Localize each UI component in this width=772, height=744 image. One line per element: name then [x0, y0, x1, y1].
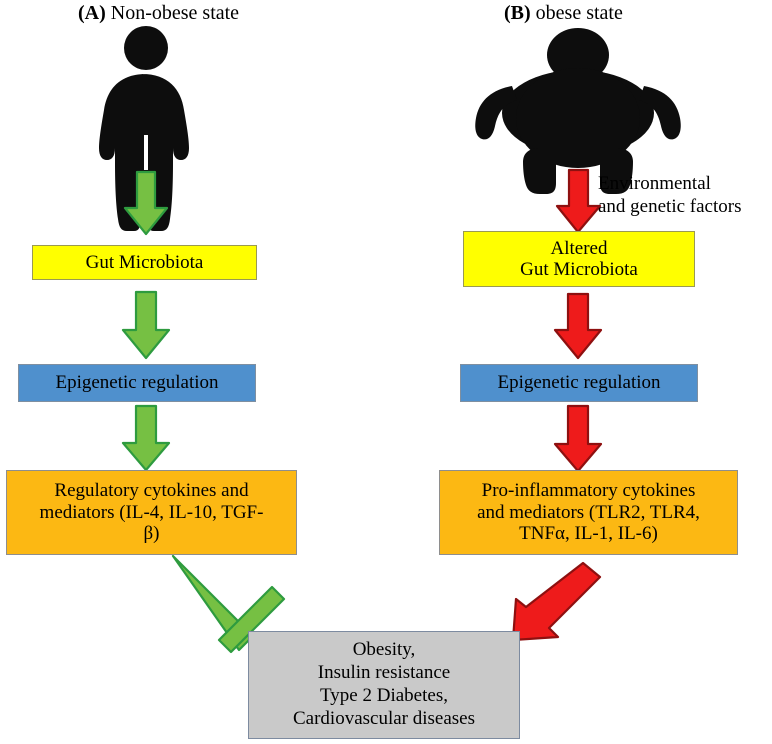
green-arrow-epigenetic-to-cytokines [123, 406, 169, 470]
panel-b-title: (B) obese state [504, 2, 623, 25]
box-pro-inflammatory-cytokines[interactable]: Pro-inflammatory cytokines and mediators… [439, 470, 738, 555]
panel-b-label: (B) [504, 2, 531, 24]
figure-canvas: (A) Non-obese state (B) obese state Gut … [0, 0, 772, 744]
box-gut-microbiota-left-label: Gut Microbiota [86, 252, 204, 273]
box-regulatory-cytokines-line1: Regulatory cytokines and [54, 480, 248, 501]
box-outcome-line1: Obesity, [353, 639, 416, 662]
panel-a-label: (A) [78, 2, 106, 24]
box-epigenetic-regulation-right-label: Epigenetic regulation [497, 372, 660, 393]
panel-b-text: obese state [531, 2, 623, 24]
red-arrow-cytokines-to-outcome [513, 563, 600, 640]
obese-person-silhouette [475, 28, 681, 194]
box-outcome-line4: Cardiovascular diseases [293, 708, 475, 731]
box-outcome-line2: Insulin resistance [318, 662, 450, 685]
box-pro-inflammatory-cytokines-line3: TNFα, IL-1, IL-6) [519, 523, 658, 544]
green-arrow-microbiota-to-epigenetic [123, 292, 169, 358]
panel-a-text: Non-obese state [106, 2, 239, 24]
box-outcome-line3: Type 2 Diabetes, [320, 685, 448, 708]
non-obese-person-silhouette [99, 26, 189, 231]
box-pro-inflammatory-cytokines-line1: Pro-inflammatory cytokines [482, 480, 696, 501]
red-arrow-epigenetic-to-cytokines [555, 406, 601, 471]
box-epigenetic-regulation-left[interactable]: Epigenetic regulation [18, 364, 256, 402]
box-altered-gut-microbiota[interactable]: Altered Gut Microbiota [463, 231, 695, 287]
panel-a-title: (A) Non-obese state [78, 2, 239, 25]
green-arrow-person-to-microbiota [125, 172, 167, 234]
box-regulatory-cytokines[interactable]: Regulatory cytokines and mediators (IL-4… [6, 470, 297, 555]
box-outcome-diseases[interactable]: Obesity, Insulin resistance Type 2 Diabe… [248, 631, 520, 739]
environmental-genetic-factors-line1: Environmental [598, 172, 741, 195]
box-regulatory-cytokines-line2: mediators (IL-4, IL-10, TGF- [40, 502, 264, 523]
environmental-genetic-factors-annotation: Environmental and genetic factors [598, 172, 741, 218]
red-arrow-microbiota-to-epigenetic [555, 294, 601, 358]
box-gut-microbiota-left[interactable]: Gut Microbiota [32, 245, 257, 280]
box-altered-gut-microbiota-line2: Gut Microbiota [520, 259, 638, 280]
box-regulatory-cytokines-line3: β) [144, 523, 160, 544]
box-altered-gut-microbiota-line1: Altered [551, 238, 608, 259]
box-epigenetic-regulation-left-label: Epigenetic regulation [55, 372, 218, 393]
box-pro-inflammatory-cytokines-line2: and mediators (TLR2, TLR4, [477, 502, 700, 523]
box-epigenetic-regulation-right[interactable]: Epigenetic regulation [460, 364, 698, 402]
environmental-genetic-factors-line2: and genetic factors [598, 195, 741, 218]
red-arrow-person-to-microbiota [557, 170, 600, 232]
